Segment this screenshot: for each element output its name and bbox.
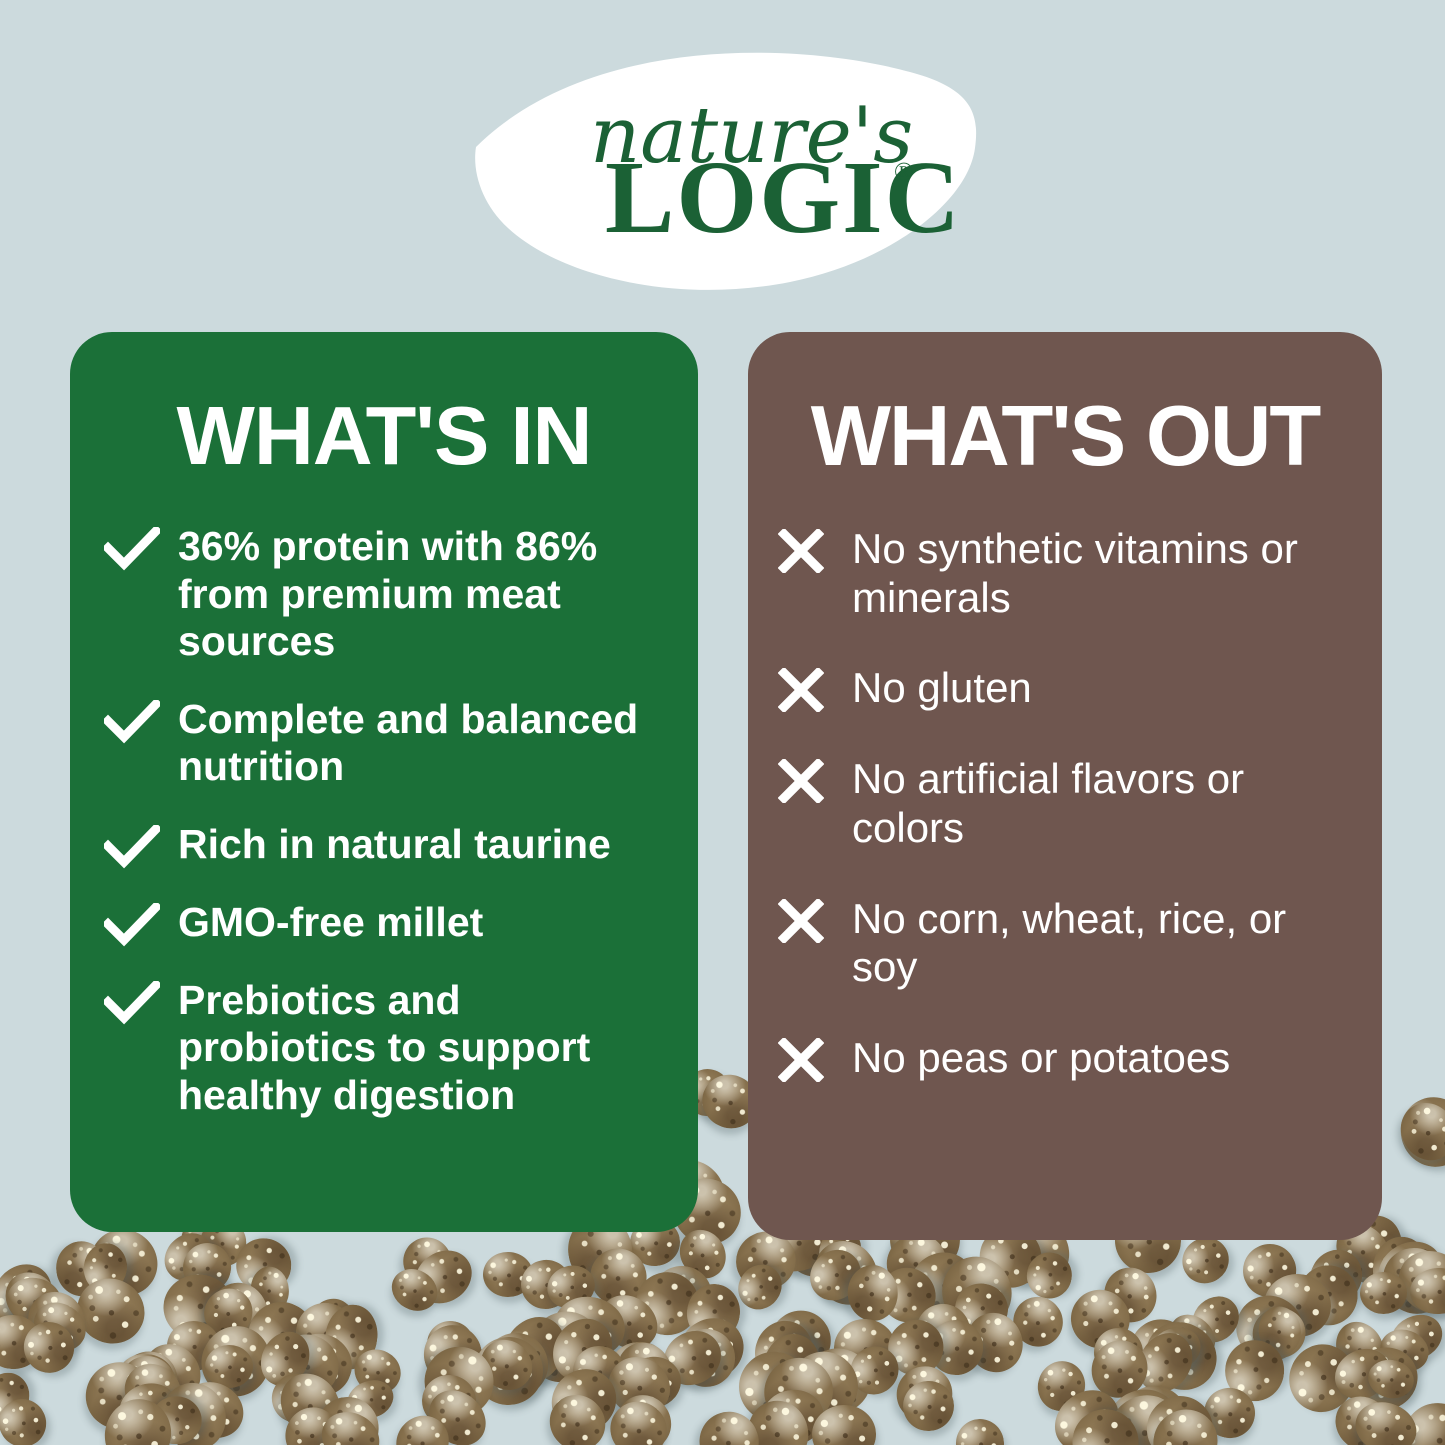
list-item: GMO-free millet	[104, 899, 664, 947]
check-icon	[104, 527, 166, 571]
list-item-label: Prebiotics and probiotics to support hea…	[178, 977, 664, 1120]
list-item-label: No synthetic vitamins or minerals	[852, 525, 1352, 622]
check-icon	[104, 700, 166, 744]
list-item: No corn, wheat, rice, or soy	[778, 895, 1352, 992]
registered-mark: ®	[894, 157, 914, 186]
list-item: No synthetic vitamins or minerals	[778, 525, 1352, 622]
x-icon	[778, 529, 840, 573]
list-item: Complete and balanced nutrition	[104, 696, 664, 791]
whats-out-title: WHAT'S OUT	[778, 394, 1352, 479]
list-item-label: Rich in natural taurine	[178, 821, 611, 869]
check-icon	[104, 825, 166, 869]
check-icon	[104, 981, 166, 1025]
x-icon	[778, 1038, 840, 1082]
x-icon	[778, 668, 840, 712]
whats-out-list: No synthetic vitamins or minerals No glu…	[778, 525, 1352, 1083]
list-item-label: Complete and balanced nutrition	[178, 696, 664, 791]
whats-out-panel: WHAT'S OUT No synthetic vitamins or mine…	[748, 332, 1382, 1240]
list-item: 36% protein with 86% from premium meat s…	[104, 523, 664, 666]
list-item: No artificial flavors or colors	[778, 755, 1352, 852]
list-item: No gluten	[778, 664, 1352, 713]
list-item-label: 36% protein with 86% from premium meat s…	[178, 523, 664, 666]
whats-in-panel: WHAT'S IN 36% protein with 86% from prem…	[70, 332, 698, 1232]
kibble-piece	[953, 1416, 1008, 1445]
list-item-label: No peas or potatoes	[852, 1034, 1230, 1083]
x-icon	[778, 759, 840, 803]
check-icon	[104, 903, 166, 947]
list-item-label: GMO-free millet	[178, 899, 483, 947]
whats-in-list: 36% protein with 86% from premium meat s…	[104, 523, 664, 1119]
brand-logo: nature's LOGIC ®	[470, 52, 980, 292]
list-item-label: No artificial flavors or colors	[852, 755, 1352, 852]
list-item-label: No gluten	[852, 664, 1032, 713]
whats-in-title: WHAT'S IN	[104, 394, 664, 477]
list-item: Prebiotics and probiotics to support hea…	[104, 977, 664, 1120]
x-icon	[778, 899, 840, 943]
list-item-label: No corn, wheat, rice, or soy	[852, 895, 1352, 992]
list-item: No peas or potatoes	[778, 1034, 1352, 1083]
list-item: Rich in natural taurine	[104, 821, 664, 869]
